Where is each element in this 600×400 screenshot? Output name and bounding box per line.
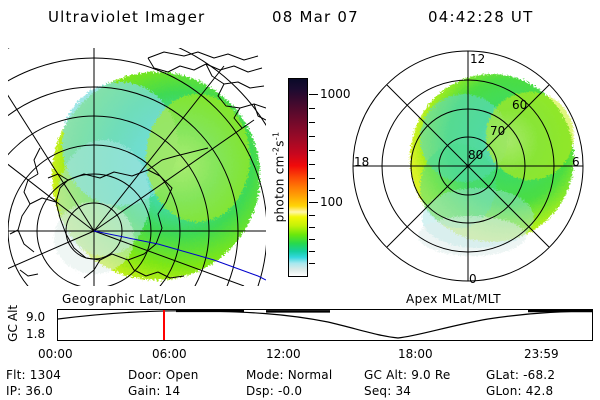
left-panel-caption: Geographic Lat/Lon	[62, 292, 186, 306]
aurora-emission-layer-polar	[410, 74, 574, 256]
magnetic-polar-plot[interactable]: 12 18 6 0 60 70 80	[352, 50, 584, 282]
colorbar-minor-tick	[309, 122, 315, 123]
colorbar-axis-label: photon cm-2s-1	[272, 132, 287, 223]
mlat-label-80: 80	[468, 148, 483, 162]
geographic-plot-svg	[8, 48, 266, 286]
page-title: Ultraviolet Imager	[48, 8, 205, 26]
altitude-curve-svg	[58, 310, 592, 340]
status-glat: GLat: -68.2	[486, 368, 555, 382]
status-gc-alt: GC Alt: 9.0 Re	[364, 368, 450, 382]
colorbar-major-tick	[309, 202, 318, 203]
observation-time: 04:42:28 UT	[428, 8, 533, 26]
status-glon: GLon: 42.8	[486, 384, 553, 398]
mlt-label-6: 6	[572, 155, 580, 169]
time-tick-0000: 00:00	[38, 347, 73, 361]
status-dsp: Dsp: -0.0	[246, 384, 302, 398]
colorbar[interactable]: photon cm-2s-1 1000100	[288, 78, 308, 277]
mlat-label-60: 60	[512, 98, 527, 112]
colorbar-tick-label: 100	[320, 195, 343, 209]
status-ip: IP: 36.0	[6, 384, 53, 398]
colorbar-major-tick	[309, 94, 318, 95]
colorbar-tick-label: 1000	[320, 87, 351, 101]
uv-imager-display: Ultraviolet Imager 08 Mar 07 04:42:28 UT	[0, 0, 600, 400]
mlat-label-70: 70	[490, 124, 505, 138]
colorbar-minor-tick	[309, 251, 315, 252]
mlt-label-12: 12	[470, 52, 485, 66]
geographic-plot[interactable]	[8, 48, 266, 286]
mlt-label-18: 18	[354, 155, 369, 169]
colorbar-minor-tick	[309, 190, 315, 191]
observation-date: 08 Mar 07	[272, 8, 359, 26]
strip-ytick-low: 1.8	[26, 327, 45, 341]
status-mode: Mode: Normal	[246, 368, 332, 382]
colorbar-minor-tick	[309, 150, 315, 151]
status-seq: Seq: 34	[364, 384, 411, 398]
status-flight: Flt: 1304	[6, 368, 61, 382]
altitude-curve	[58, 311, 592, 338]
colorbar-minor-tick	[309, 108, 315, 109]
strip-ytick-high: 9.0	[26, 310, 45, 324]
time-tick-1200: 12:00	[266, 347, 301, 361]
colorbar-minor-tick	[309, 263, 315, 264]
colorbar-minor-tick	[309, 215, 315, 216]
polar-graticule	[353, 51, 583, 281]
colorbar-gradient	[288, 78, 308, 277]
colorbar-minor-tick	[309, 164, 315, 165]
colorbar-minor-tick	[309, 136, 315, 137]
altitude-timeseries-plot[interactable]	[57, 309, 593, 341]
current-time-marker	[163, 310, 165, 340]
colorbar-minor-tick	[309, 227, 315, 228]
status-gain: Gain: 14	[128, 384, 180, 398]
strip-y-axis-label: Alt GC	[2, 303, 24, 343]
aurora-emission-layer	[52, 72, 260, 280]
colorbar-minor-tick	[309, 239, 315, 240]
polar-plot-svg	[352, 50, 584, 282]
time-tick-1800: 18:00	[398, 347, 433, 361]
right-panel-caption: Apex MLat/MLT	[406, 292, 501, 306]
colorbar-minor-tick	[309, 178, 315, 179]
status-door: Door: Open	[128, 368, 199, 382]
time-tick-0600: 06:00	[152, 347, 187, 361]
mlt-label-0: 0	[469, 272, 477, 286]
time-tick-2359: 23:59	[524, 347, 559, 361]
